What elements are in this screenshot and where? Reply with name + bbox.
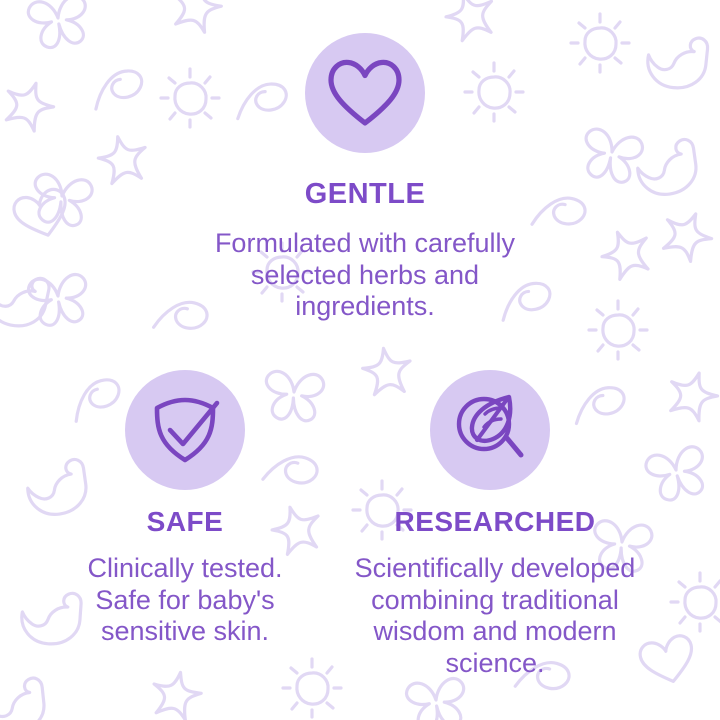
feature-researched-description: Scientifically developed combining tradi… xyxy=(330,553,660,679)
feature-gentle-title: GENTLE xyxy=(160,180,570,209)
desc-line: Scientifically developed xyxy=(355,553,636,583)
feature-researched: RESEARCHED Scientifically developed comb… xyxy=(330,508,660,679)
desc-line: Clinically tested. xyxy=(87,553,282,583)
feature-researched-title: RESEARCHED xyxy=(330,508,660,536)
desc-line: Safe for baby's xyxy=(95,585,274,615)
feature-safe-title: SAFE xyxy=(35,508,335,536)
desc-line: sensitive skin. xyxy=(101,616,269,646)
desc-line: combining traditional xyxy=(371,585,619,615)
researched-icon-badge xyxy=(430,370,550,490)
desc-line: ingredients. xyxy=(295,291,435,321)
feature-gentle: GENTLE Formulated with carefully selecte… xyxy=(160,180,570,323)
feature-gentle-description: Formulated with carefully selected herbs… xyxy=(160,228,570,323)
promo-graphic: GENTLE Formulated with carefully selecte… xyxy=(0,0,720,720)
feature-safe: SAFE Clinically tested. Safe for baby's … xyxy=(35,508,335,648)
desc-line: selected herbs and xyxy=(251,260,479,290)
desc-line: wisdom and modern science. xyxy=(373,616,616,678)
gentle-icon-badge xyxy=(305,33,425,153)
heart-icon xyxy=(327,58,403,128)
desc-line: Formulated with carefully xyxy=(215,228,515,258)
leaf-magnifier-icon xyxy=(451,391,529,469)
safe-icon-badge xyxy=(125,370,245,490)
shield-check-icon xyxy=(147,392,223,468)
feature-safe-description: Clinically tested. Safe for baby's sensi… xyxy=(35,553,335,648)
